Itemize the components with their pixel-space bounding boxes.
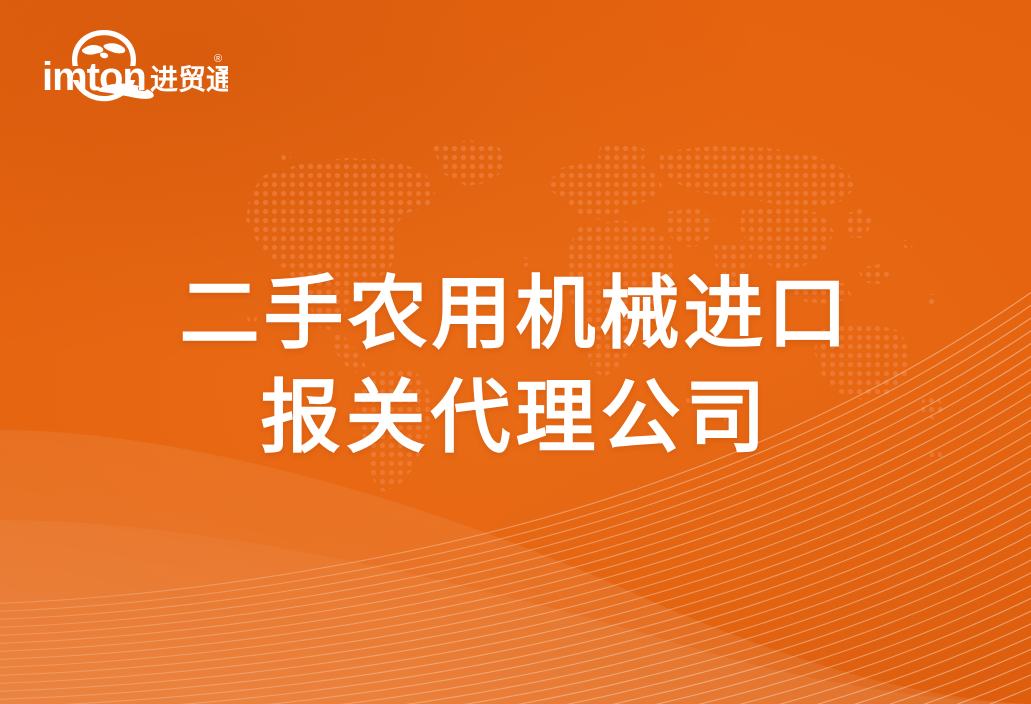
logo-chinese-name: 进贸通 <box>150 63 228 96</box>
brand-logo[interactable]: imton 进贸通 ® <box>38 28 228 104</box>
logo-wordmark: imton <box>42 55 146 99</box>
registered-trademark-symbol: ® <box>214 53 222 65</box>
headline-line-1: 二手农用机械进口 <box>0 262 1031 366</box>
banner-canvas: imton 进贸通 ® 二手农用机械进口 报关代理公司 <box>0 0 1031 704</box>
headline-line-2: 报关代理公司 <box>0 366 1031 470</box>
headline-block: 二手农用机械进口 报关代理公司 <box>0 262 1031 470</box>
